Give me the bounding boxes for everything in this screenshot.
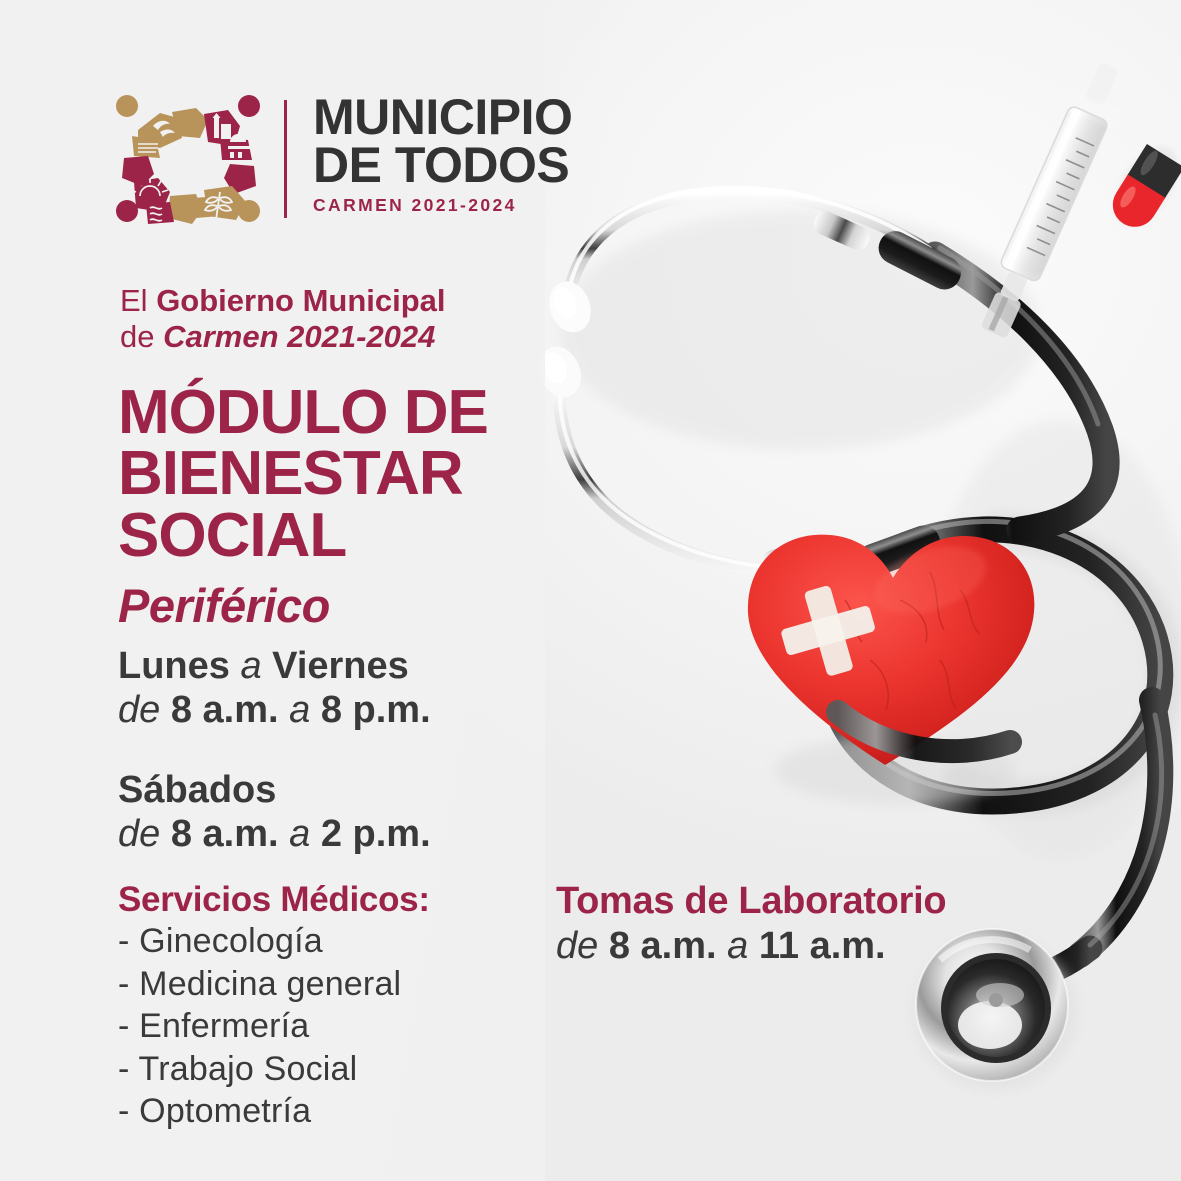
title-line-3: SOCIAL	[118, 505, 678, 566]
saturday-day: Sábados	[118, 769, 276, 811]
lab-de: de	[556, 925, 598, 967]
emblem-dot-bl	[116, 200, 138, 222]
logo-line-1: MUNICIPIO	[313, 94, 583, 140]
list-item: - Trabajo Social	[118, 1048, 538, 1091]
laboratory-block: Tomas de Laboratorio de 8 a.m. a 11 a.m.	[556, 880, 1076, 968]
municipio-de-carmen-emblem	[108, 86, 268, 231]
laboratory-heading: Tomas de Laboratorio	[556, 880, 1076, 923]
saturday-time-conn: a	[289, 813, 310, 855]
weekday-day-to: Viernes	[272, 645, 409, 687]
municipality-logo: MUNICIPIO DE TODOS CARMEN 2021-2024	[108, 86, 578, 231]
list-item: - Optometría	[118, 1090, 538, 1133]
logo-line-3: CARMEN 2021-2024	[313, 195, 583, 216]
weekday-de: de	[118, 689, 160, 731]
emblem-dot-tl	[116, 95, 138, 117]
saturday-time-to: 2 p.m.	[321, 813, 431, 855]
lab-time-from: 8 a.m.	[609, 925, 717, 967]
logo-wordmark: MUNICIPIO DE TODOS CARMEN 2021-2024	[313, 94, 583, 216]
lab-time-conn: a	[727, 925, 748, 967]
kicker-line-1: El Gobierno Municipal	[120, 283, 640, 318]
lab-time-to: 11 a.m.	[759, 925, 886, 967]
opening-hours: Lunes a Viernes de 8 a.m. a 8 p.m. Sábad…	[118, 644, 638, 856]
logo-divider	[284, 100, 287, 218]
logo-line-2: DE TODOS	[313, 142, 583, 188]
list-item: - Enfermería	[118, 1005, 538, 1048]
title-line-1: MÓDULO DE	[118, 382, 678, 443]
kicker-carmen-years: Carmen 2021-2024	[163, 319, 435, 354]
laboratory-hours-line: de 8 a.m. a 11 a.m.	[556, 925, 1076, 968]
saturday-hours-block: Sábados de 8 a.m. a 2 p.m.	[118, 768, 638, 856]
services-heading: Servicios Médicos:	[118, 880, 538, 920]
emblem-dot-tr	[238, 95, 260, 117]
weekday-days-line: Lunes a Viernes	[118, 644, 638, 688]
saturday-time-from: 8 a.m.	[171, 813, 279, 855]
page-title: MÓDULO DE BIENESTAR SOCIAL	[118, 382, 678, 566]
weekday-hours-block: Lunes a Viernes de 8 a.m. a 8 p.m.	[118, 644, 638, 732]
kicker-line-2: de Carmen 2021-2024	[120, 319, 640, 354]
kicker-gobierno-municipal: Gobierno Municipal	[156, 283, 445, 318]
saturday-time-line: de 8 a.m. a 2 p.m.	[118, 812, 638, 856]
list-item: - Medicina general	[118, 963, 538, 1006]
saturday-de: de	[118, 813, 160, 855]
poster-canvas: MUNICIPIO DE TODOS CARMEN 2021-2024 El G…	[0, 0, 1181, 1181]
medical-services-list: Servicios Médicos: - Ginecología - Medic…	[118, 880, 538, 1133]
government-kicker: El Gobierno Municipal de Carmen 2021-202…	[120, 283, 640, 355]
weekday-conn: a	[240, 645, 261, 687]
saturday-days-line: Sábados	[118, 768, 638, 812]
weekday-time-conn: a	[289, 689, 310, 731]
title-line-2: BIENESTAR	[118, 443, 678, 504]
list-item: - Ginecología	[118, 920, 538, 963]
title-subtitle-periferico: Periférico	[118, 578, 330, 633]
weekday-day-from: Lunes	[118, 645, 230, 687]
kicker-de: de	[120, 319, 163, 354]
weekday-time-from: 8 a.m.	[171, 689, 279, 731]
weekday-time-line: de 8 a.m. a 8 p.m.	[118, 688, 638, 732]
weekday-time-to: 8 p.m.	[321, 689, 431, 731]
kicker-el: El	[120, 283, 156, 318]
